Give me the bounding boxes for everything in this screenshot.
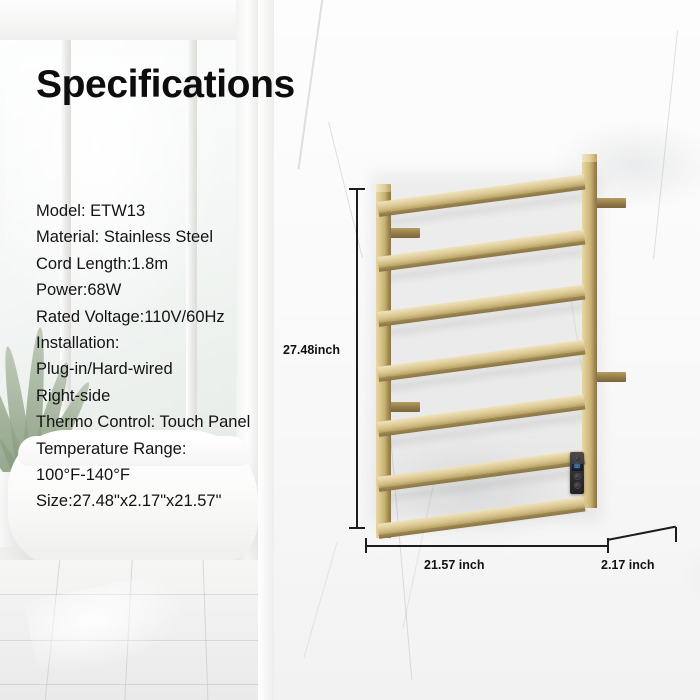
marble-vein <box>680 520 700 630</box>
spec-line: Right-side <box>36 383 250 409</box>
spec-line: Plug-in/Hard-wired <box>36 356 250 382</box>
spec-line: Material: Stainless Steel <box>36 224 250 250</box>
wall-bracket <box>390 228 420 238</box>
wall-bracket <box>390 402 420 412</box>
post-cap-left <box>376 184 391 192</box>
post-cap-right <box>582 154 597 162</box>
depth-dimension-label: 2.17 inch <box>601 558 655 572</box>
spec-line: Cord Length:1.8m <box>36 251 250 277</box>
touch-control-panel[interactable]: 88 <box>570 452 584 494</box>
marble-vein <box>297 0 324 169</box>
width-dimension-tick-left <box>365 538 367 553</box>
power-button-icon[interactable] <box>574 455 581 462</box>
spec-line: Model: ETW13 <box>36 198 250 224</box>
height-dimension-tick-top <box>349 188 365 190</box>
marble-vein <box>328 122 363 258</box>
tile-grout-line <box>203 560 209 700</box>
tile-grout-line <box>0 684 258 685</box>
temp-up-button-icon[interactable] <box>574 473 581 480</box>
page-title: Specifications <box>36 63 295 107</box>
height-dimension-label: 27.48inch <box>283 343 340 357</box>
ceiling <box>0 0 258 40</box>
marble-vein <box>303 542 337 658</box>
product-specification-image: 88 27.48inch 21.57 inch 2.17 inch Specif… <box>0 0 700 700</box>
height-dimension-tick-bottom <box>349 527 365 529</box>
temp-down-button-icon[interactable] <box>574 482 581 489</box>
spec-line: Installation: <box>36 330 250 356</box>
wall-bracket <box>596 198 626 208</box>
spec-line: Temperature Range: <box>36 436 250 462</box>
spec-line: Power:68W <box>36 277 250 303</box>
spec-line: Size:27.48"x2.17"x21.57" <box>36 488 250 514</box>
temperature-display: 88 <box>572 464 583 471</box>
spec-line: 100°F-140°F <box>36 462 250 488</box>
depth-dimension-tick-right <box>675 527 677 542</box>
spec-line: Thermo Control: Touch Panel <box>36 409 250 435</box>
wall-bracket <box>596 372 626 382</box>
height-dimension-line <box>356 188 358 528</box>
width-dimension-line <box>365 545 609 547</box>
specification-list: Model: ETW13 Material: Stainless Steel C… <box>36 198 250 515</box>
spec-line: Rated Voltage:110V/60Hz <box>36 304 250 330</box>
width-dimension-label: 21.57 inch <box>424 558 484 572</box>
towel-warmer-rack: 88 <box>360 150 620 550</box>
